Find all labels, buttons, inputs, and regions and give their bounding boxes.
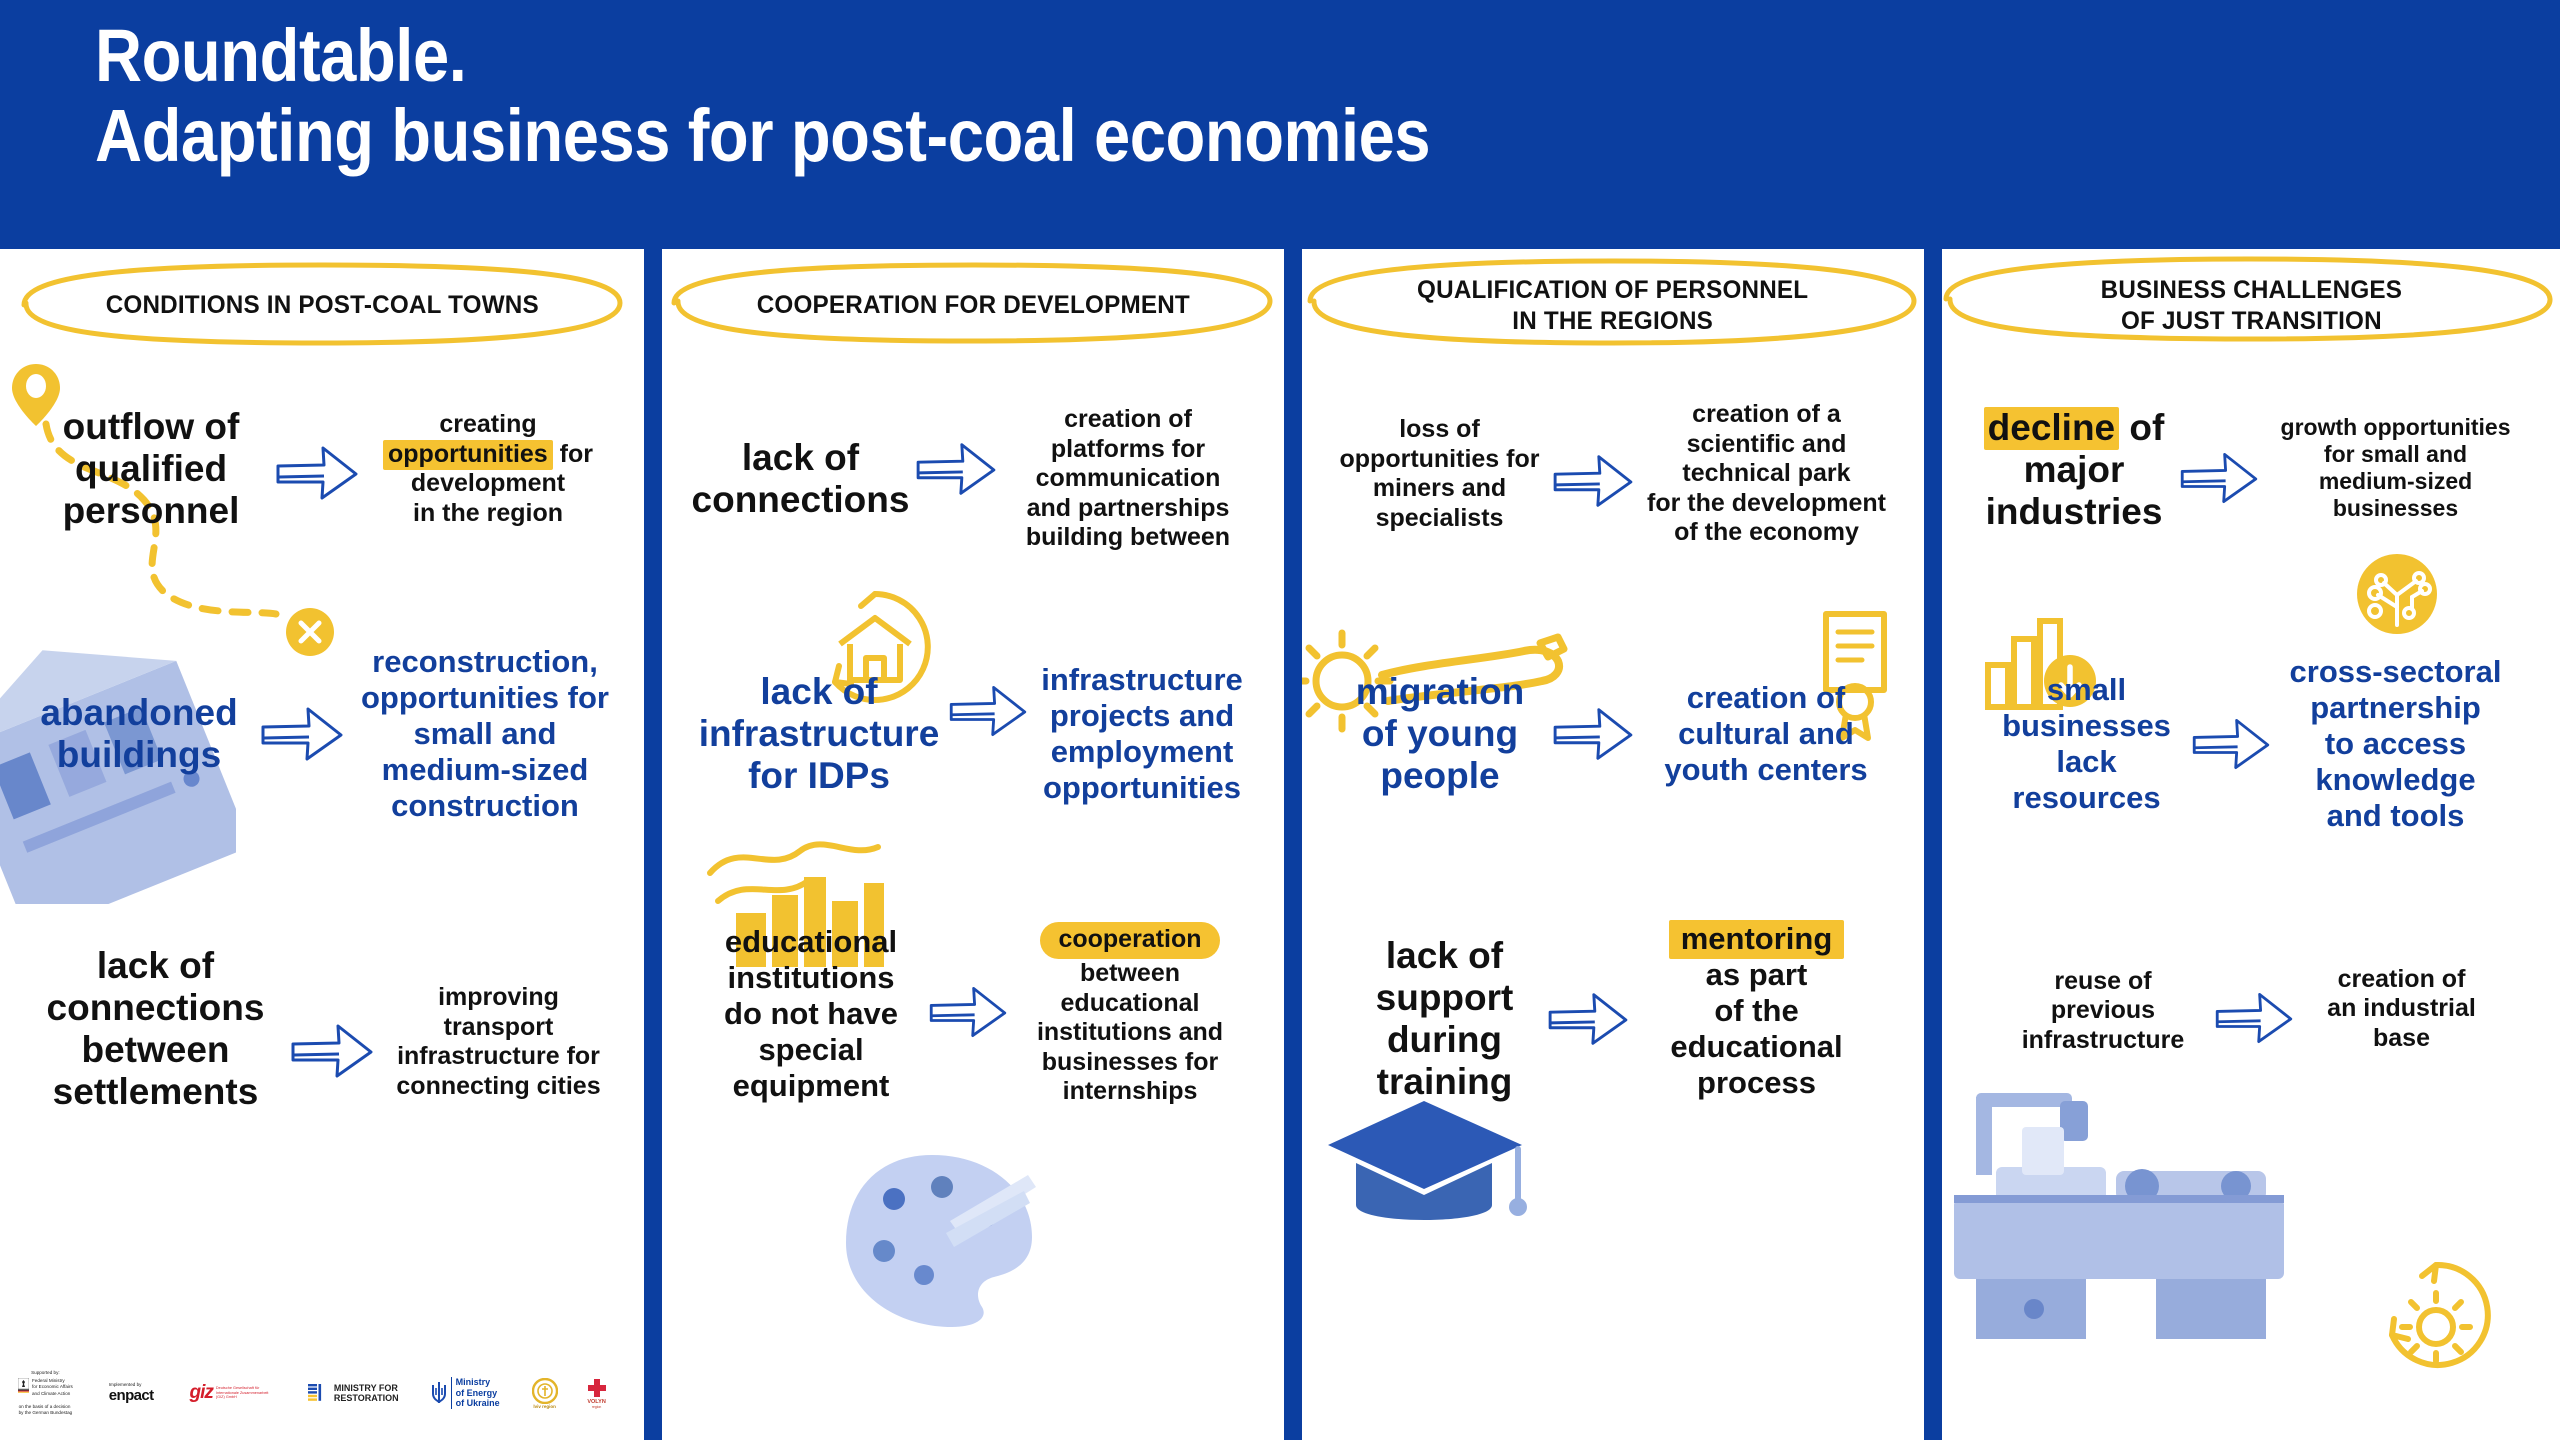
page-header: Roundtable. Adapting business for post-c… bbox=[0, 0, 2560, 249]
highlight-cooperation: cooperation bbox=[1040, 922, 1219, 960]
row-1-3: lack of connections between settlements … bbox=[0, 884, 644, 1174]
column-conditions-in-post-coal-towns: CONDITIONS IN POST-COAL TOWNS outflow of… bbox=[0, 249, 644, 1440]
row-3-2: migration of young people creation of cu… bbox=[1302, 594, 1924, 874]
solution-text: creation of platforms for communication … bbox=[996, 405, 1261, 553]
page-title-line-2: Adapting business for post-coal economie… bbox=[95, 96, 2119, 176]
arrow-right-icon bbox=[912, 435, 1000, 503]
arrow-right-icon bbox=[2188, 711, 2274, 777]
lviv-crest-icon bbox=[532, 1378, 558, 1404]
solution-text: cross-sectoral partnership to access kno… bbox=[2268, 654, 2523, 834]
tryzub-icon bbox=[431, 1381, 447, 1405]
solution-text: creation of a scientific and technical p… bbox=[1629, 400, 1904, 548]
arrow-right-icon bbox=[272, 438, 362, 508]
solution-text: reconstruction, opportunities for small … bbox=[345, 644, 625, 824]
column-heading-2: COOPERATION FOR DEVELOPMENT bbox=[662, 249, 1284, 354]
solution-text: infrastructure projects and employment o… bbox=[1017, 662, 1267, 806]
arrow-right-icon bbox=[287, 1016, 377, 1086]
solution-text: creation of an industrial base bbox=[2287, 965, 2517, 1054]
row-4-3: reuse of previous infrastructure creatio… bbox=[1942, 894, 2560, 1154]
solution-text: mentoring as part of the educational pro… bbox=[1624, 921, 1889, 1101]
gear-recycle-icon bbox=[2366, 1249, 2506, 1389]
arrow-right-icon bbox=[1549, 447, 1637, 515]
row-2-2: lack of infrastructure for IDPs infrastr… bbox=[662, 604, 1284, 864]
problem-text: abandoned buildings bbox=[19, 692, 259, 776]
column-divider-1 bbox=[644, 249, 662, 1440]
row-1-1: outflow of qualified personnel creating … bbox=[0, 354, 644, 584]
paint-palette-photo bbox=[832, 1147, 1052, 1337]
column-heading-1-text: CONDITIONS IN POST-COAL TOWNS bbox=[105, 290, 538, 321]
column-heading-3-text: QUALIFICATION OF PERSONNEL IN THE REGION… bbox=[1417, 275, 1808, 336]
problem-text: lack of support during training bbox=[1337, 935, 1552, 1104]
problem-text: loss of opportunities for miners and spe… bbox=[1322, 415, 1557, 533]
problem-text: lack of infrastructure for IDPs bbox=[679, 671, 959, 798]
column-qualification-of-personnel: QUALIFICATION OF PERSONNEL IN THE REGION… bbox=[1302, 249, 1924, 1440]
column-heading-2-text: COOPERATION FOR DEVELOPMENT bbox=[756, 290, 1189, 321]
column-cooperation-for-development: COOPERATION FOR DEVELOPMENT lack of conn… bbox=[662, 249, 1284, 1440]
ministry-of-energy-of-ukraine-logo: Ministry of Energy of Ukraine bbox=[431, 1377, 500, 1409]
row-2-1: lack of connections creation of platform… bbox=[662, 354, 1284, 604]
column-business-challenges: BUSINESS CHALLENGES OF JUST TRANSITION d… bbox=[1942, 249, 2560, 1440]
row-3-3: lack of support during training mentorin… bbox=[1302, 874, 1924, 1164]
arrow-right-icon bbox=[2211, 985, 2297, 1051]
row-3-1: loss of opportunities for miners and spe… bbox=[1302, 354, 1924, 594]
restoration-mark-icon bbox=[308, 1383, 330, 1403]
highlight-mentoring: mentoring bbox=[1669, 920, 1845, 959]
solution-text: improving transport infrastructure for c… bbox=[371, 983, 626, 1101]
problem-text: lack of connections bbox=[686, 437, 916, 521]
problem-text: lack of connections between settlements bbox=[18, 945, 293, 1114]
solution-text: creation of cultural and youth centers bbox=[1631, 680, 1901, 788]
problem-text: outflow of qualified personnel bbox=[26, 406, 276, 533]
german-federal-ministry-logo: Supported by: Federal Ministry for Econo… bbox=[18, 1370, 73, 1416]
problem-text: educational institutions do not have spe… bbox=[691, 924, 931, 1104]
arrow-right-icon bbox=[1544, 985, 1632, 1053]
page-title-line-1: Roundtable. bbox=[95, 16, 2119, 96]
ministry-for-restoration-logo: MINISTRY FOR RESTORATION bbox=[308, 1383, 399, 1404]
row-4-1: decline of major industries growth oppor… bbox=[1942, 354, 2560, 594]
volyn-logo: VOLYN region bbox=[586, 1377, 608, 1409]
column-heading-1: CONDITIONS IN POST-COAL TOWNS bbox=[0, 249, 644, 354]
partner-logos: Supported by: Federal Ministry for Econo… bbox=[18, 1354, 633, 1432]
volyn-cross-icon bbox=[586, 1377, 608, 1399]
row-1-2: abandoned buildings reconstruction, oppo… bbox=[0, 584, 644, 884]
problem-text: small businesses lack resources bbox=[1979, 672, 2194, 816]
row-4-2: small businesses lack resources cross-se… bbox=[1942, 594, 2560, 894]
problem-text: migration of young people bbox=[1325, 671, 1555, 798]
solution-text: creating opportunities for development i… bbox=[358, 410, 618, 528]
arrow-right-icon bbox=[1549, 700, 1637, 768]
highlight-decline: decline bbox=[1984, 407, 2120, 450]
eagle-icon bbox=[18, 1378, 29, 1393]
column-heading-3: QUALIFICATION OF PERSONNEL IN THE REGION… bbox=[1302, 249, 1924, 354]
giz-logo: giz Deutsche Gesellschaft für Internatio… bbox=[190, 1382, 274, 1404]
infographic-canvas: Roundtable. Adapting business for post-c… bbox=[0, 0, 2560, 1440]
arrow-right-icon bbox=[2176, 445, 2262, 511]
column-divider-3 bbox=[1924, 249, 1942, 1440]
solution-text: cooperation between educational institut… bbox=[1005, 922, 1255, 1107]
column-heading-4: BUSINESS CHALLENGES OF JUST TRANSITION bbox=[1942, 249, 2560, 354]
problem-text: reuse of previous infrastructure bbox=[1986, 967, 2221, 1056]
highlight-opportunities: opportunities bbox=[383, 440, 553, 470]
column-divider-2 bbox=[1284, 249, 1302, 1440]
row-2-3: educational institutions do not have spe… bbox=[662, 864, 1284, 1164]
arrow-right-icon bbox=[925, 979, 1011, 1045]
lviv-region-logo: lviv region bbox=[532, 1378, 558, 1409]
column-heading-4-text: BUSINESS CHALLENGES OF JUST TRANSITION bbox=[2100, 275, 2401, 336]
arrow-right-icon bbox=[257, 699, 347, 769]
enpact-logo: Implemented by enpact bbox=[109, 1382, 154, 1404]
solution-text: growth opportunities for small and mediu… bbox=[2256, 414, 2536, 523]
problem-text: decline of major industries bbox=[1967, 407, 2182, 534]
